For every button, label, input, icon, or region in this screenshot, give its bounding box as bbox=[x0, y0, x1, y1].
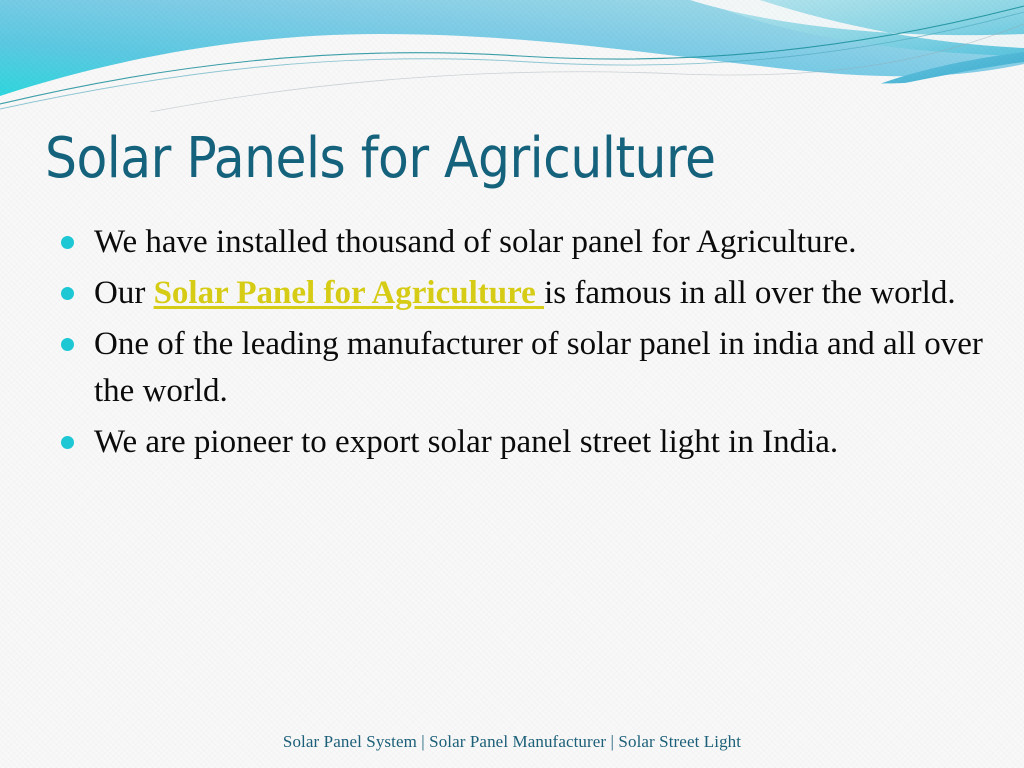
bullet-text-pre: One of the leading manufacturer of solar… bbox=[94, 326, 983, 409]
list-item: We have installed thousand of solar pane… bbox=[56, 219, 986, 266]
footer-link-solar-panel-manufacturer[interactable]: Solar Panel Manufacturer bbox=[429, 732, 606, 751]
bullet-dot-icon bbox=[61, 436, 74, 449]
slide-footer: Solar Panel System | Solar Panel Manufac… bbox=[0, 731, 1024, 753]
bullet-text-pre: We are pioneer to export solar panel str… bbox=[94, 424, 838, 460]
presentation-slide: Solar Panels for Agriculture We have ins… bbox=[0, 0, 1024, 768]
list-item: We are pioneer to export solar panel str… bbox=[56, 419, 986, 466]
footer-separator-2: | bbox=[606, 732, 618, 751]
bullet-dot-icon bbox=[61, 287, 74, 300]
footer-link-solar-street-light[interactable]: Solar Street Light bbox=[618, 732, 741, 751]
bullet-list: We have installed thousand of solar pane… bbox=[56, 219, 986, 470]
bullet-dot-icon bbox=[61, 338, 74, 351]
slide-title: Solar Panels for Agriculture bbox=[45, 127, 715, 191]
bullet-dot-icon bbox=[61, 236, 74, 249]
list-item-text: We have installed thousand of solar pane… bbox=[94, 224, 857, 260]
footer-separator-1: | bbox=[417, 732, 429, 751]
footer-link-solar-panel-system[interactable]: Solar Panel System bbox=[283, 732, 417, 751]
list-item-text: One of the leading manufacturer of solar… bbox=[94, 326, 983, 409]
bullet-text-pre: We have installed thousand of solar pane… bbox=[94, 224, 857, 260]
list-item: One of the leading manufacturer of solar… bbox=[56, 321, 986, 415]
header-wave-banner bbox=[0, 0, 1024, 112]
list-item-text: Our Solar Panel for Agriculture is famou… bbox=[94, 275, 956, 311]
bullet-text-pre: Our bbox=[94, 275, 154, 311]
bullet-text-post: is famous in all over the world. bbox=[544, 275, 956, 311]
list-item-text: We are pioneer to export solar panel str… bbox=[94, 424, 838, 460]
list-item: Our Solar Panel for Agriculture is famou… bbox=[56, 270, 986, 317]
hyperlink-solar-panel-for-agriculture[interactable]: Solar Panel for Agriculture bbox=[154, 275, 544, 311]
